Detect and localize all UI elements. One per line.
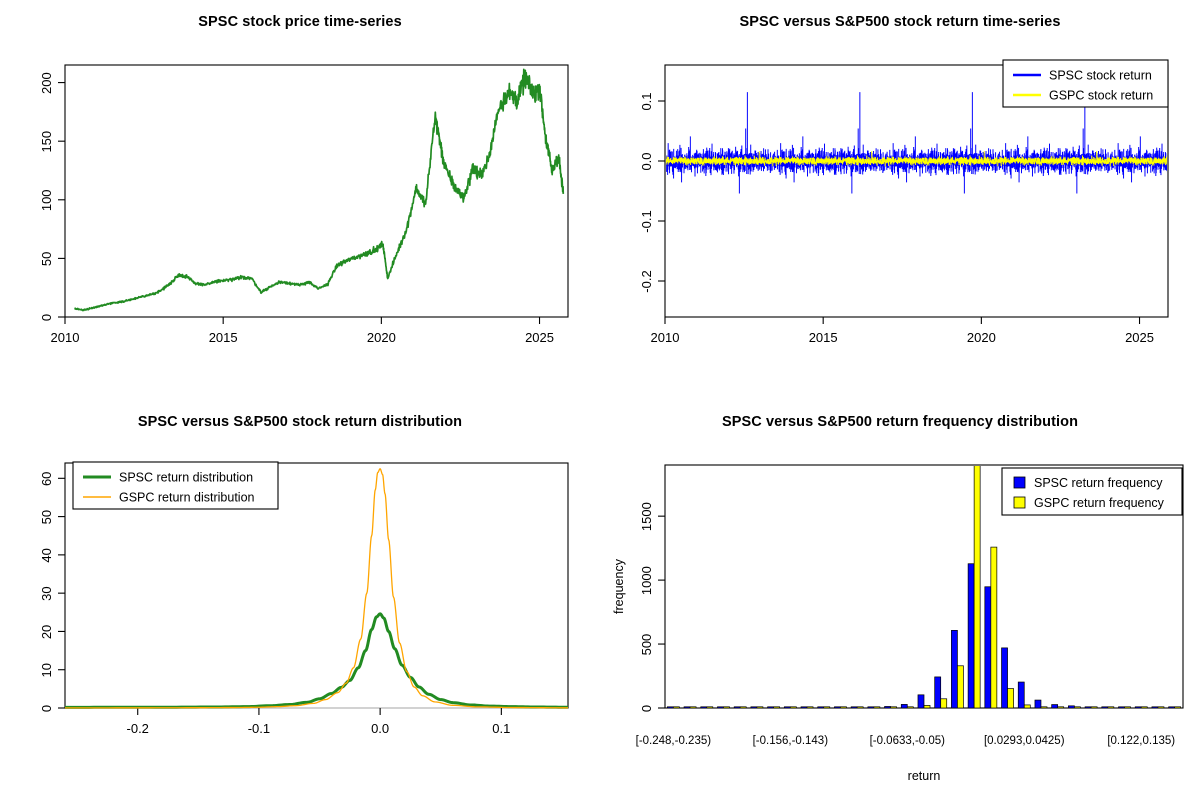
x-tick-label: [-0.156,-0.143): [753, 735, 829, 747]
bar: [1041, 707, 1047, 708]
y-tick-label: 10: [39, 663, 54, 677]
bar: [1141, 707, 1147, 708]
panel-spsc-price-timeseries: SPSC stock price time-series 05010015020…: [0, 0, 600, 400]
bar: [1018, 682, 1024, 708]
bar: [907, 707, 913, 708]
x-tick-label: [-0.248,-0.235): [636, 735, 712, 747]
bar: [723, 707, 729, 708]
bar: [690, 707, 696, 708]
panel-spsc-gspc-return-timeseries: SPSC versus S&P500 stock return time-ser…: [600, 0, 1200, 400]
bar: [985, 587, 991, 708]
x-tick-label: [0.0293,0.0425): [984, 735, 1065, 747]
legend-label: GSPC return distribution: [119, 491, 255, 505]
bar: [957, 666, 963, 708]
bar: [974, 400, 980, 708]
bar: [918, 695, 924, 708]
legend-square-swatch: [1014, 497, 1025, 508]
bar: [1068, 706, 1074, 708]
bar: [951, 630, 957, 708]
bar: [701, 707, 707, 708]
y-tick-label: 50: [39, 252, 54, 266]
x-tick-label: [-0.0633,-0.05): [870, 735, 946, 747]
bar: [941, 699, 947, 708]
x-tick-label: 2020: [367, 330, 396, 345]
bar: [885, 706, 891, 708]
x-tick-label: 2015: [209, 330, 238, 345]
bar: [774, 707, 780, 708]
bar: [1008, 689, 1014, 708]
y-tick-label: 200: [39, 72, 54, 94]
legend[interactable]: SPSC return distributionGSPC return dist…: [73, 462, 278, 509]
bar: [818, 707, 824, 708]
legend-label: SPSC return distribution: [119, 471, 253, 485]
panel-return-distribution: SPSC versus S&P500 stock return distribu…: [0, 400, 600, 800]
bar: [751, 707, 757, 708]
bar: [851, 707, 857, 708]
bar: [1058, 707, 1064, 708]
legend-label: GSPC return frequency: [1034, 496, 1165, 510]
y-tick-label: 40: [39, 548, 54, 562]
bar: [840, 707, 846, 708]
bar: [790, 707, 796, 708]
x-tick-label: 2010: [51, 330, 80, 345]
bar: [673, 707, 679, 708]
x-tick-label: 2025: [525, 330, 554, 345]
y-tick-label: 0: [639, 705, 654, 712]
bar: [1091, 707, 1097, 708]
panel-return-frequency-distribution: SPSC versus S&P500 return frequency dist…: [600, 400, 1200, 800]
legend-label: GSPC stock return: [1049, 89, 1153, 103]
y-tick-label: 1500: [639, 502, 654, 531]
bar: [1119, 707, 1125, 708]
bar: [1125, 707, 1131, 708]
x-tick-label: -0.1: [248, 721, 270, 736]
y-tick-label: -0.2: [639, 270, 654, 292]
bar: [868, 707, 874, 708]
bar: [768, 707, 774, 708]
y-axis-label: frequency: [612, 558, 626, 614]
bar: [684, 707, 690, 708]
spsc-price-line: [74, 69, 563, 310]
bar: [717, 707, 723, 708]
bar: [834, 707, 840, 708]
bar: [1175, 707, 1181, 708]
y-tick-label: 20: [39, 625, 54, 639]
plot-area-return-timeseries: -0.2-0.10.00.12010201520202025SPSC stock…: [600, 0, 1200, 400]
legend-label: SPSC return frequency: [1034, 476, 1163, 490]
x-tick-label: 2025: [1125, 330, 1154, 345]
plot-area-return-frequency: 050010001500frequencyreturn[-0.248,-0.23…: [600, 400, 1200, 800]
bar: [707, 707, 713, 708]
x-tick-label: 2015: [809, 330, 838, 345]
y-tick-label: 0: [39, 705, 54, 712]
bar: [991, 547, 997, 708]
bar: [1108, 707, 1114, 708]
bar: [1052, 705, 1058, 708]
bar: [784, 707, 790, 708]
y-tick-label: 60: [39, 472, 54, 486]
x-tick-label: 0.1: [492, 721, 510, 736]
bar: [807, 707, 813, 708]
x-tick-label: [0.122,0.135): [1107, 735, 1175, 747]
bar: [801, 707, 807, 708]
plot-area-spsc-price: 0501001502002010201520202025: [0, 0, 600, 400]
y-tick-label: 500: [639, 634, 654, 656]
bar: [1035, 700, 1041, 708]
bar: [824, 707, 830, 708]
bar: [968, 564, 974, 708]
y-tick-label: 30: [39, 586, 54, 600]
bar: [757, 707, 763, 708]
bar: [935, 677, 941, 708]
bar: [901, 704, 907, 708]
x-tick-label: 2010: [651, 330, 680, 345]
bar: [667, 707, 673, 708]
bar: [874, 707, 880, 708]
legend[interactable]: SPSC return frequencyGSPC return frequen…: [1002, 468, 1182, 515]
bar: [1169, 707, 1175, 708]
y-tick-label: 50: [39, 510, 54, 524]
plot-box: [65, 65, 568, 317]
y-tick-label: 0.1: [639, 92, 654, 110]
legend[interactable]: SPSC stock returnGSPC stock return: [1003, 60, 1168, 107]
x-axis-label: return: [908, 769, 941, 783]
bar: [734, 707, 740, 708]
figure-canvas: SPSC stock price time-series 05010015020…: [0, 0, 1200, 800]
bar: [1158, 707, 1164, 708]
y-tick-label: 0: [39, 314, 54, 321]
bar: [1085, 707, 1091, 708]
bar: [891, 707, 897, 708]
legend-square-swatch: [1014, 477, 1025, 488]
x-tick-label: -0.2: [127, 721, 149, 736]
x-tick-label: 0.0: [371, 721, 389, 736]
bar: [924, 705, 930, 708]
spsc-density-curve: [65, 614, 568, 708]
y-tick-label: 1000: [639, 566, 654, 595]
bar: [1135, 707, 1141, 708]
plot-area-return-density: 0102030405060-0.2-0.10.00.1SPSC return d…: [0, 400, 600, 800]
y-tick-label: 0.0: [639, 152, 654, 170]
x-tick-label: 2020: [967, 330, 996, 345]
bar-group: [667, 400, 1180, 708]
bar: [1024, 705, 1030, 708]
y-tick-label: 100: [39, 189, 54, 211]
y-tick-label: -0.1: [639, 210, 654, 232]
y-tick-label: 150: [39, 131, 54, 153]
bar: [1152, 707, 1158, 708]
legend-label: SPSC stock return: [1049, 69, 1152, 83]
bar: [1002, 648, 1008, 708]
bar: [857, 707, 863, 708]
bar: [740, 707, 746, 708]
bar: [1074, 707, 1080, 708]
bar: [1102, 707, 1108, 708]
